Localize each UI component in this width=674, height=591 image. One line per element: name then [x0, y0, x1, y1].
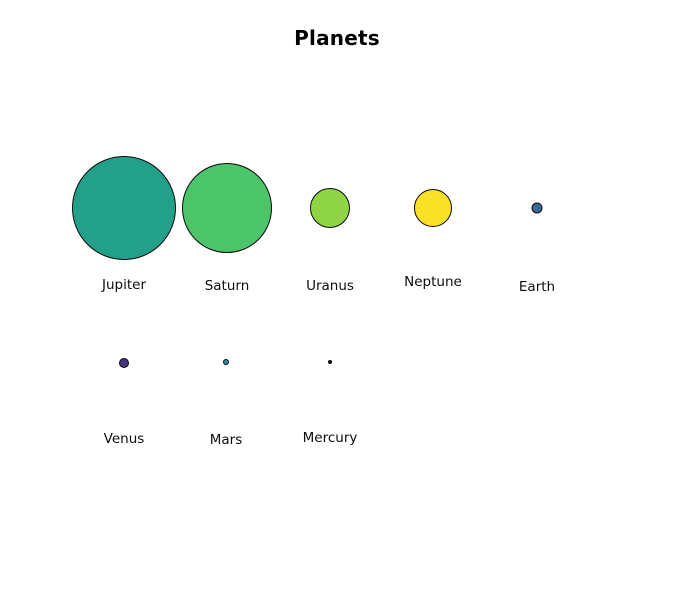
planet-label: Earth	[519, 281, 555, 295]
planet-label: Neptune	[404, 276, 462, 290]
planet-bubble[interactable]	[182, 163, 272, 253]
planet-label: Uranus	[306, 280, 354, 294]
planet-bubble[interactable]	[310, 188, 350, 228]
planet-label: Mercury	[303, 432, 358, 446]
planet-bubble[interactable]	[223, 359, 229, 365]
planet-label: Mars	[210, 434, 243, 448]
planet-bubble[interactable]	[119, 358, 129, 368]
planet-bubble[interactable]	[532, 203, 543, 214]
planet-label: Saturn	[205, 280, 250, 294]
planet-bubble[interactable]	[72, 156, 176, 260]
planet-bubble[interactable]	[414, 189, 452, 227]
page-title: Planets	[0, 26, 674, 50]
planets-figure: Planets JupiterSaturnUranusNeptuneEarthV…	[0, 0, 674, 591]
planet-label: Jupiter	[102, 279, 146, 293]
planet-label: Venus	[104, 433, 145, 447]
planet-bubble[interactable]	[328, 360, 332, 364]
